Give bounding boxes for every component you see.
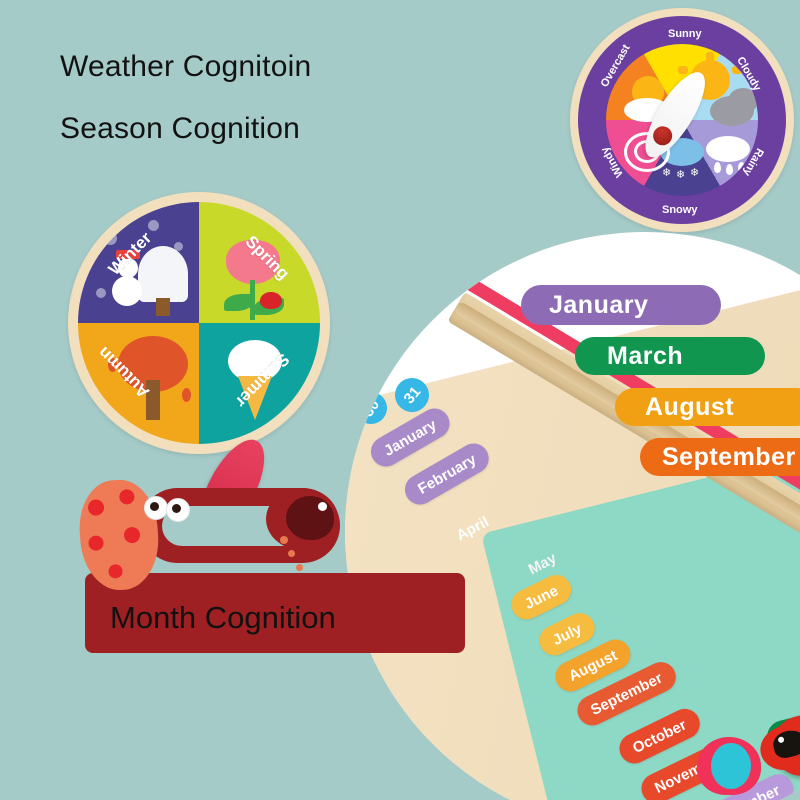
snow-dot	[148, 220, 159, 231]
month-cognition-label: Month Cognition	[110, 600, 336, 636]
illustration-pupil	[172, 504, 181, 513]
season-wheel-segments	[78, 202, 320, 444]
illustration-spot	[88, 535, 104, 551]
rain-drop-icon	[726, 164, 733, 175]
weather-wheel[interactable]: ❄ ❄ ❄ Sunny Cloudy Rainy Snowy Windy Ove…	[570, 8, 794, 232]
illustration-spot	[108, 564, 123, 579]
illustration-spot	[123, 527, 140, 544]
tree-trunk	[156, 298, 170, 316]
illustration-side-dot	[280, 536, 288, 544]
balloon-canopy-inner	[711, 743, 751, 789]
weather-label-snowy: Snowy	[662, 204, 697, 216]
snow-dot	[96, 288, 106, 298]
ladybug-slider-illustration	[80, 480, 340, 590]
snowflake-icon: ❄	[676, 170, 685, 181]
snowflake-icon: ❄	[662, 168, 671, 179]
rain-cloud-icon	[706, 136, 750, 162]
illustration-side-dot	[288, 550, 295, 557]
hot-air-balloon-icon	[697, 737, 767, 800]
rain-drop-icon	[714, 162, 721, 173]
weather-label-sunny: Sunny	[668, 28, 702, 40]
illustration-wing	[76, 477, 161, 592]
sun-ray	[706, 52, 714, 64]
illustration-eye-glint	[318, 502, 327, 511]
sun-ray	[678, 66, 688, 74]
heading-season-cognition: Season Cognition	[60, 112, 300, 146]
callout-march: March	[575, 337, 765, 375]
illustration-pupil	[150, 502, 159, 511]
callout-january: January	[521, 285, 721, 325]
callout-august: August	[615, 388, 800, 426]
snowman-icon	[112, 276, 142, 306]
ladybug-icon	[260, 292, 282, 309]
illustration-spot	[87, 499, 104, 516]
illustration-side-dot	[296, 564, 303, 571]
weather-wheel-ring: ❄ ❄ ❄ Sunny Cloudy Rainy Snowy Windy Ove…	[578, 16, 786, 224]
illustration-spot	[119, 489, 135, 505]
snow-dot	[104, 232, 117, 245]
callout-september: September	[640, 438, 800, 476]
illustration-eye-patch	[286, 496, 334, 540]
season-wheel[interactable]: Winter Spring Summer Autumn	[68, 192, 330, 454]
snowflake-icon: ❄	[690, 168, 699, 179]
autumn-leaf	[182, 388, 191, 402]
snowy-tree-icon	[138, 246, 188, 302]
product-image: Weather Cognitoin Season Cognition ❄	[0, 0, 800, 800]
heading-weather-cognition: Weather Cognitoin	[60, 50, 311, 84]
